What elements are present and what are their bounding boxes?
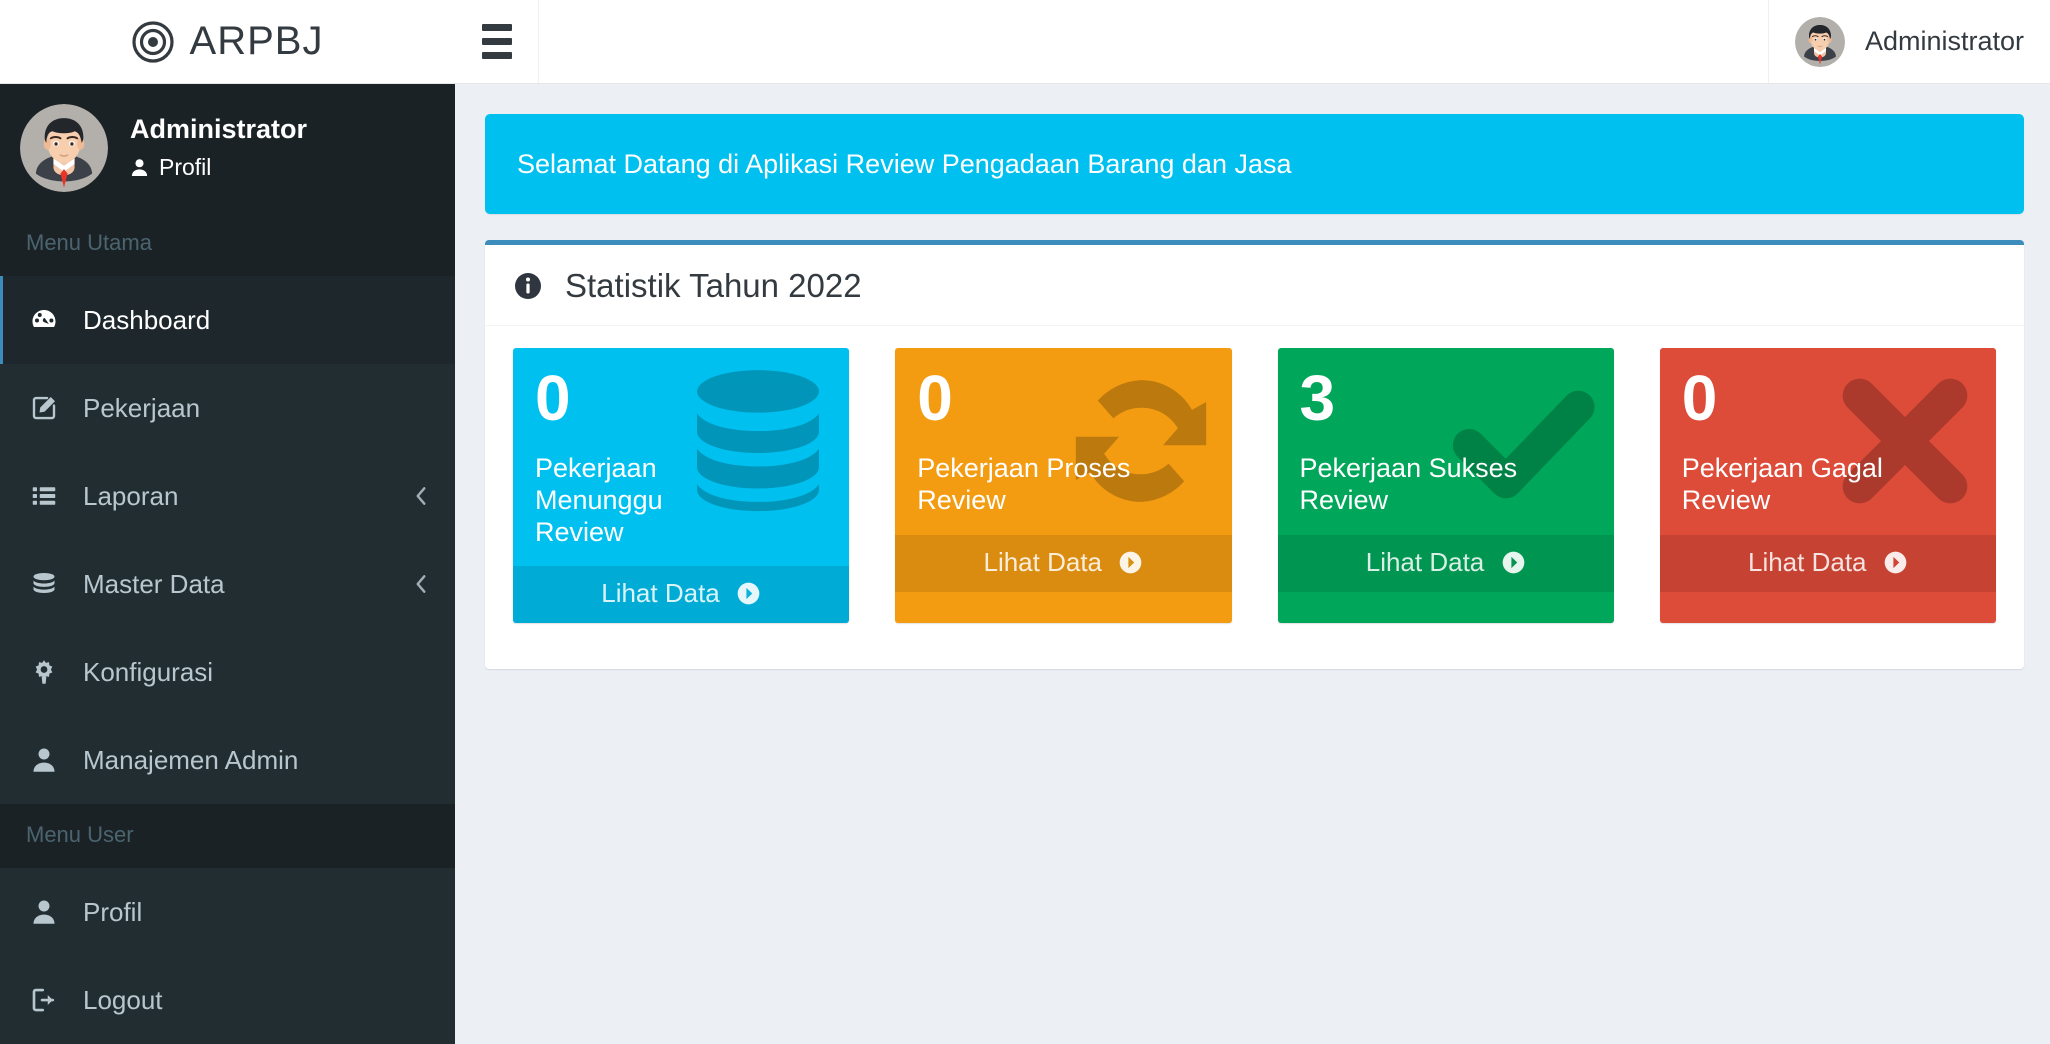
sidebar-section-header-menu-user: Menu User (0, 804, 455, 868)
sidebar-item-label: Profil (83, 897, 429, 928)
stat-box-link[interactable]: Lihat Data (895, 535, 1231, 592)
gear-icon (29, 657, 59, 687)
hamburger-icon (482, 24, 512, 59)
user-icon (130, 158, 149, 177)
stat-box-link[interactable]: Lihat Data (1660, 535, 1996, 592)
sidebar-item-laporan[interactable]: Laporan (0, 452, 455, 540)
stat-box-pekerjaan-menunggu-review: 0 Pekerjaan Menunggu Review Lihat Data (513, 348, 849, 623)
chevron-left-icon (413, 573, 429, 595)
stat-box-row: 0 Pekerjaan Menunggu Review Lihat Data (513, 348, 1996, 623)
brand-logo-group: ARPBJ (132, 19, 324, 64)
welcome-banner-text: Selamat Datang di Aplikasi Review Pengad… (517, 149, 1292, 180)
sidebar-menu-utama: Dashboard Pekerjaan (0, 276, 455, 804)
target-circle-icon (132, 21, 174, 63)
user-icon (29, 745, 59, 775)
stat-box-content: 0 Pekerjaan Gagal Review (1660, 348, 1996, 535)
panel-heading: Statistik Tahun 2022 (485, 245, 2024, 326)
sidebar-item-label: Laporan (83, 481, 389, 512)
sidebar-menu-user: Profil Logout (0, 868, 455, 1044)
stat-box-link[interactable]: Lihat Data (513, 566, 849, 623)
stat-box-content: 3 Pekerjaan Sukses Review (1278, 348, 1614, 535)
sidebar-item-label: Manajemen Admin (83, 745, 429, 776)
stat-box-label: Pekerjaan Proses Review (917, 453, 1138, 517)
stat-box-pekerjaan-sukses-review: 3 Pekerjaan Sukses Review Lihat Data (1278, 348, 1614, 623)
statistics-panel: Statistik Tahun 2022 (485, 240, 2024, 669)
sidebar-toggle-button[interactable] (455, 0, 539, 83)
arrow-circle-right-icon (736, 581, 761, 606)
content-wrapper: Administrator Selamat Datang di Aplikasi… (455, 0, 2050, 1044)
arrow-circle-right-icon (1118, 550, 1143, 575)
info-circle-icon (513, 271, 543, 301)
navbar-user-menu[interactable]: Administrator (1768, 0, 2050, 83)
stat-box-value: 0 (917, 368, 1207, 429)
user-icon (29, 897, 59, 927)
top-navbar: Administrator (455, 0, 2050, 84)
stat-box-link[interactable]: Lihat Data (1278, 535, 1614, 592)
sidebar-item-pekerjaan[interactable]: Pekerjaan (0, 364, 455, 452)
arrow-circle-right-icon (1501, 550, 1526, 575)
avatar (1795, 17, 1845, 67)
sidebar-profile-label: Profil (159, 154, 211, 181)
sidebar-item-label: Konfigurasi (83, 657, 429, 688)
sidebar-item-logout[interactable]: Logout (0, 956, 455, 1044)
stat-box-value: 0 (1682, 368, 1972, 429)
stat-box-content: 0 Pekerjaan Proses Review (895, 348, 1231, 535)
sidebar-user-panel[interactable]: Administrator Profil (0, 84, 455, 212)
stat-box-link-label: Lihat Data (1366, 547, 1485, 577)
sidebar-item-konfigurasi[interactable]: Konfigurasi (0, 628, 455, 716)
sidebar-item-label: Dashboard (83, 305, 429, 336)
stat-box-label: Pekerjaan Menunggu Review (535, 453, 756, 549)
panel-body: 0 Pekerjaan Menunggu Review Lihat Data (485, 326, 2024, 669)
main-content: Selamat Datang di Aplikasi Review Pengad… (455, 84, 2050, 1044)
navbar-user-name: Administrator (1865, 26, 2024, 57)
chevron-left-icon (413, 485, 429, 507)
stat-box-link-label: Lihat Data (601, 578, 720, 608)
stat-box-link-label: Lihat Data (1748, 547, 1867, 577)
brand-title: ARPBJ (190, 19, 324, 64)
stat-box-label: Pekerjaan Gagal Review (1682, 453, 1903, 517)
sidebar-item-label: Pekerjaan (83, 393, 429, 424)
pencil-square-icon (29, 393, 59, 423)
arrow-circle-right-icon (1883, 550, 1908, 575)
stat-box-content: 0 Pekerjaan Menunggu Review (513, 348, 849, 566)
sidebar-item-dashboard[interactable]: Dashboard (0, 276, 455, 364)
sidebar-user-name: Administrator (130, 115, 307, 145)
dashboard-gauge-icon (29, 305, 59, 335)
stat-box-label: Pekerjaan Sukses Review (1300, 453, 1521, 517)
app-root: ARPBJ Administrator Profil Menu Utama (0, 0, 2050, 1044)
sign-out-icon (29, 985, 59, 1015)
sidebar-section-header-menu-utama: Menu Utama (0, 212, 455, 276)
sidebar-user-meta: Administrator Profil (130, 115, 307, 182)
sidebar-item-manajemen-admin[interactable]: Manajemen Admin (0, 716, 455, 804)
sidebar-item-label: Master Data (83, 569, 389, 600)
stat-box-value: 0 (535, 368, 825, 429)
stat-box-pekerjaan-proses-review: 0 Pekerjaan Proses Review Lihat Data (895, 348, 1231, 623)
navbar-spacer (539, 0, 1768, 83)
sidebar-item-master-data[interactable]: Master Data (0, 540, 455, 628)
sidebar: ARPBJ Administrator Profil Menu Utama (0, 0, 455, 1044)
stat-box-value: 3 (1300, 368, 1590, 429)
list-ul-icon (29, 481, 59, 511)
page-title: Statistik Tahun 2022 (565, 267, 862, 305)
brand-header[interactable]: ARPBJ (0, 0, 455, 84)
avatar (20, 104, 108, 192)
database-stack-icon (29, 569, 59, 599)
welcome-banner: Selamat Datang di Aplikasi Review Pengad… (485, 114, 2024, 214)
sidebar-item-profil[interactable]: Profil (0, 868, 455, 956)
stat-box-pekerjaan-gagal-review: 0 Pekerjaan Gagal Review Lihat Data (1660, 348, 1996, 623)
sidebar-item-label: Logout (83, 985, 429, 1016)
sidebar-profile-link[interactable]: Profil (130, 154, 307, 181)
stat-box-link-label: Lihat Data (983, 547, 1102, 577)
